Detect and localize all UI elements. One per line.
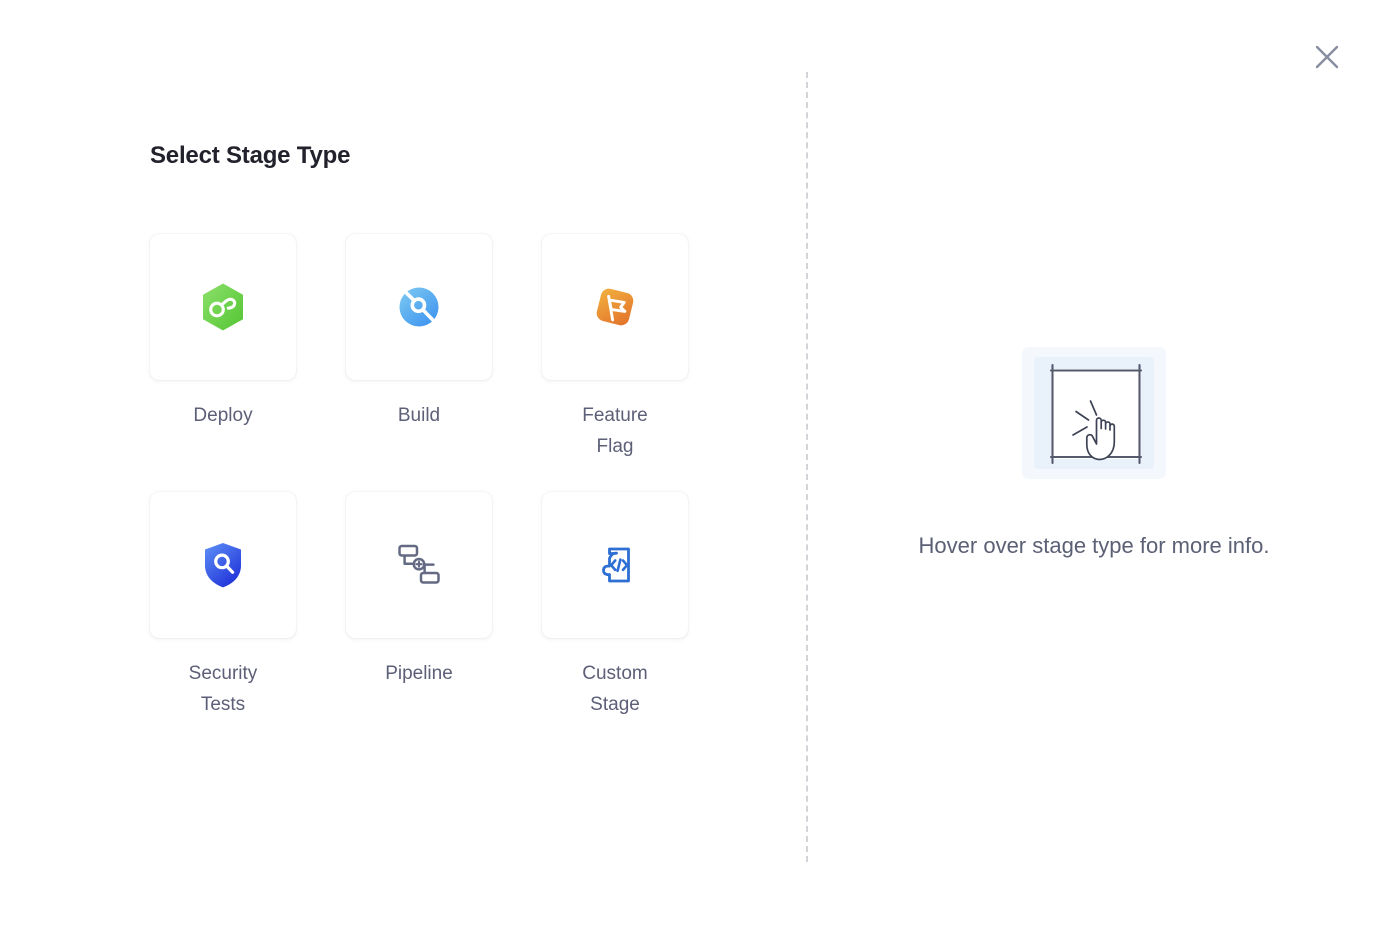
hover-info-text: Hover over stage type for more info. (904, 527, 1284, 564)
stage-type-build[interactable]: Build (346, 234, 492, 462)
stage-card-deploy[interactable] (150, 234, 296, 380)
page-title: Select Stage Type (150, 140, 806, 171)
stage-type-custom-stage[interactable]: Custom Stage (542, 492, 688, 720)
stage-type-grid: Deploy (150, 234, 740, 720)
select-stage-type-dialog: Select Stage Type (0, 0, 1382, 950)
stage-info-panel: Hover over stage type for more info. (806, 0, 1382, 950)
hover-illustration-wrapper (1020, 343, 1168, 483)
stage-label-pipeline: Pipeline (385, 658, 453, 689)
hover-hand-click-illustration (1020, 343, 1168, 483)
stage-card-build[interactable] (346, 234, 492, 380)
stage-card-custom-stage[interactable] (542, 492, 688, 638)
pipeline-nodes-icon (395, 542, 443, 588)
feature-flag-square-flag-icon (591, 283, 639, 331)
stage-card-security-tests[interactable] (150, 492, 296, 638)
deploy-hexagon-infinity-icon (200, 282, 246, 332)
stage-label-build: Build (398, 400, 440, 431)
stage-type-pipeline[interactable]: Pipeline (346, 492, 492, 720)
stage-card-feature-flag[interactable] (542, 234, 688, 380)
stage-label-feature-flag: Feature Flag (549, 400, 681, 462)
stage-type-security-tests[interactable]: Security Tests (150, 492, 296, 720)
build-circle-wrench-icon (396, 284, 442, 330)
stage-label-security-tests: Security Tests (157, 658, 289, 720)
stage-card-pipeline[interactable] (346, 492, 492, 638)
stage-label-deploy: Deploy (193, 400, 252, 431)
security-shield-search-icon (202, 541, 244, 589)
stage-type-deploy[interactable]: Deploy (150, 234, 296, 462)
stage-type-feature-flag[interactable]: Feature Flag (542, 234, 688, 462)
custom-stage-puzzle-code-icon (592, 542, 638, 588)
stage-type-panel: Select Stage Type (0, 0, 806, 950)
stage-label-custom-stage: Custom Stage (549, 658, 681, 720)
